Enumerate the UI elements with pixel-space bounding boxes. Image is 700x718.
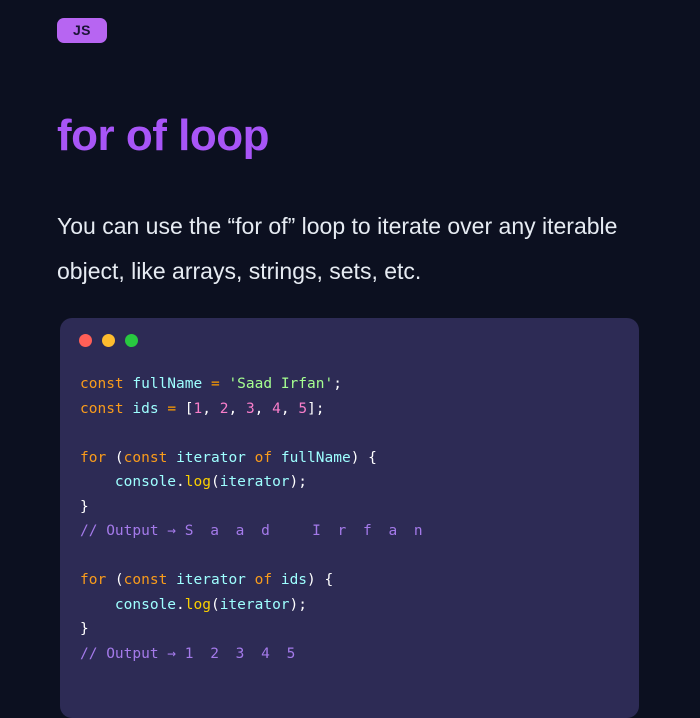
- close-dot-icon[interactable]: [79, 334, 92, 347]
- code-line-blank: [80, 544, 627, 569]
- code-token-comment: // Output →: [80, 646, 185, 662]
- code-token-var: ids: [132, 401, 158, 417]
- code-token-var: fullName: [132, 376, 202, 392]
- code-token-punct: ) {: [351, 450, 377, 466]
- code-token-punct: ,: [228, 401, 245, 417]
- code-line: for (const iterator of fullName) {: [80, 446, 627, 471]
- code-token-kw: of: [255, 572, 272, 588]
- code-token-comment: // Output →: [80, 523, 185, 539]
- language-badge-js: JS: [57, 18, 107, 43]
- code-token-var: iterator: [220, 474, 290, 490]
- code-line: const fullName = 'Saad Irfan';: [80, 372, 627, 397]
- code-token-punct: );: [290, 474, 307, 490]
- code-line: // Output → 1 2 3 4 5: [80, 642, 627, 667]
- window-controls: [79, 334, 138, 347]
- code-token-punct: (: [106, 572, 123, 588]
- code-token-comment: S a a d I r f a n: [185, 523, 427, 539]
- page-title: for of loop: [57, 112, 269, 160]
- code-token-punct: (: [211, 597, 220, 613]
- code-token-punct: }: [80, 621, 89, 637]
- code-token-punct: ,: [202, 401, 219, 417]
- code-token-punct: ,: [281, 401, 298, 417]
- code-token-var: ids: [281, 572, 307, 588]
- code-token-op: =: [167, 401, 176, 417]
- code-token-kw: const: [80, 376, 124, 392]
- code-token-punct: ) {: [307, 572, 333, 588]
- code-token-num: 5: [298, 401, 307, 417]
- code-token-var: console: [115, 474, 176, 490]
- code-token-punct: (: [106, 450, 123, 466]
- code-line-blank: [80, 421, 627, 446]
- code-token-fn: log: [185, 474, 211, 490]
- code-token-kw: for: [80, 572, 106, 588]
- code-token-punct: (: [211, 474, 220, 490]
- code-token-comment: 1 2 3 4 5: [185, 646, 300, 662]
- code-token-punct: [80, 597, 115, 613]
- code-token-punct: [167, 572, 176, 588]
- code-token-kw: const: [124, 572, 168, 588]
- page-description: You can use the “for of” loop to iterate…: [57, 204, 663, 294]
- code-token-punct: [202, 376, 211, 392]
- code-token-num: 3: [246, 401, 255, 417]
- code-token-op: =: [211, 376, 220, 392]
- code-token-kw: const: [80, 401, 124, 417]
- code-block[interactable]: const fullName = 'Saad Irfan';const ids …: [80, 372, 627, 666]
- code-token-punct: [80, 474, 115, 490]
- code-line: const ids = [1, 2, 3, 4, 5];: [80, 397, 627, 422]
- code-token-punct: ;: [333, 376, 342, 392]
- code-token-punct: .: [176, 474, 185, 490]
- code-token-kw: of: [255, 450, 272, 466]
- code-token-punct: .: [176, 597, 185, 613]
- code-token-punct: }: [80, 499, 89, 515]
- code-token-punct: [246, 450, 255, 466]
- code-window: const fullName = 'Saad Irfan';const ids …: [60, 318, 639, 718]
- code-token-var: iterator: [176, 450, 246, 466]
- code-line: }: [80, 617, 627, 642]
- code-token-punct: [272, 450, 281, 466]
- code-line: console.log(iterator);: [80, 470, 627, 495]
- code-token-str: 'Saad Irfan': [228, 376, 333, 392]
- language-badge-row: JS: [57, 18, 107, 43]
- code-token-var: console: [115, 597, 176, 613]
- code-token-punct: [272, 572, 281, 588]
- code-token-punct: [167, 450, 176, 466]
- code-line: }: [80, 495, 627, 520]
- code-token-var: fullName: [281, 450, 351, 466]
- code-token-num: 4: [272, 401, 281, 417]
- code-token-punct: [: [176, 401, 193, 417]
- code-token-var: iterator: [220, 597, 290, 613]
- code-line: for (const iterator of ids) {: [80, 568, 627, 593]
- code-token-num: 1: [194, 401, 203, 417]
- code-token-kw: for: [80, 450, 106, 466]
- code-token-punct: );: [290, 597, 307, 613]
- maximize-dot-icon[interactable]: [125, 334, 138, 347]
- code-line: console.log(iterator);: [80, 593, 627, 618]
- code-token-kw: const: [124, 450, 168, 466]
- code-token-fn: log: [185, 597, 211, 613]
- code-token-punct: [246, 572, 255, 588]
- code-token-punct: ,: [255, 401, 272, 417]
- code-token-var: iterator: [176, 572, 246, 588]
- code-line: // Output → S a a d I r f a n: [80, 519, 627, 544]
- code-token-punct: ];: [307, 401, 324, 417]
- slide-root: JS for of loop You can use the “for of” …: [0, 0, 700, 700]
- minimize-dot-icon[interactable]: [102, 334, 115, 347]
